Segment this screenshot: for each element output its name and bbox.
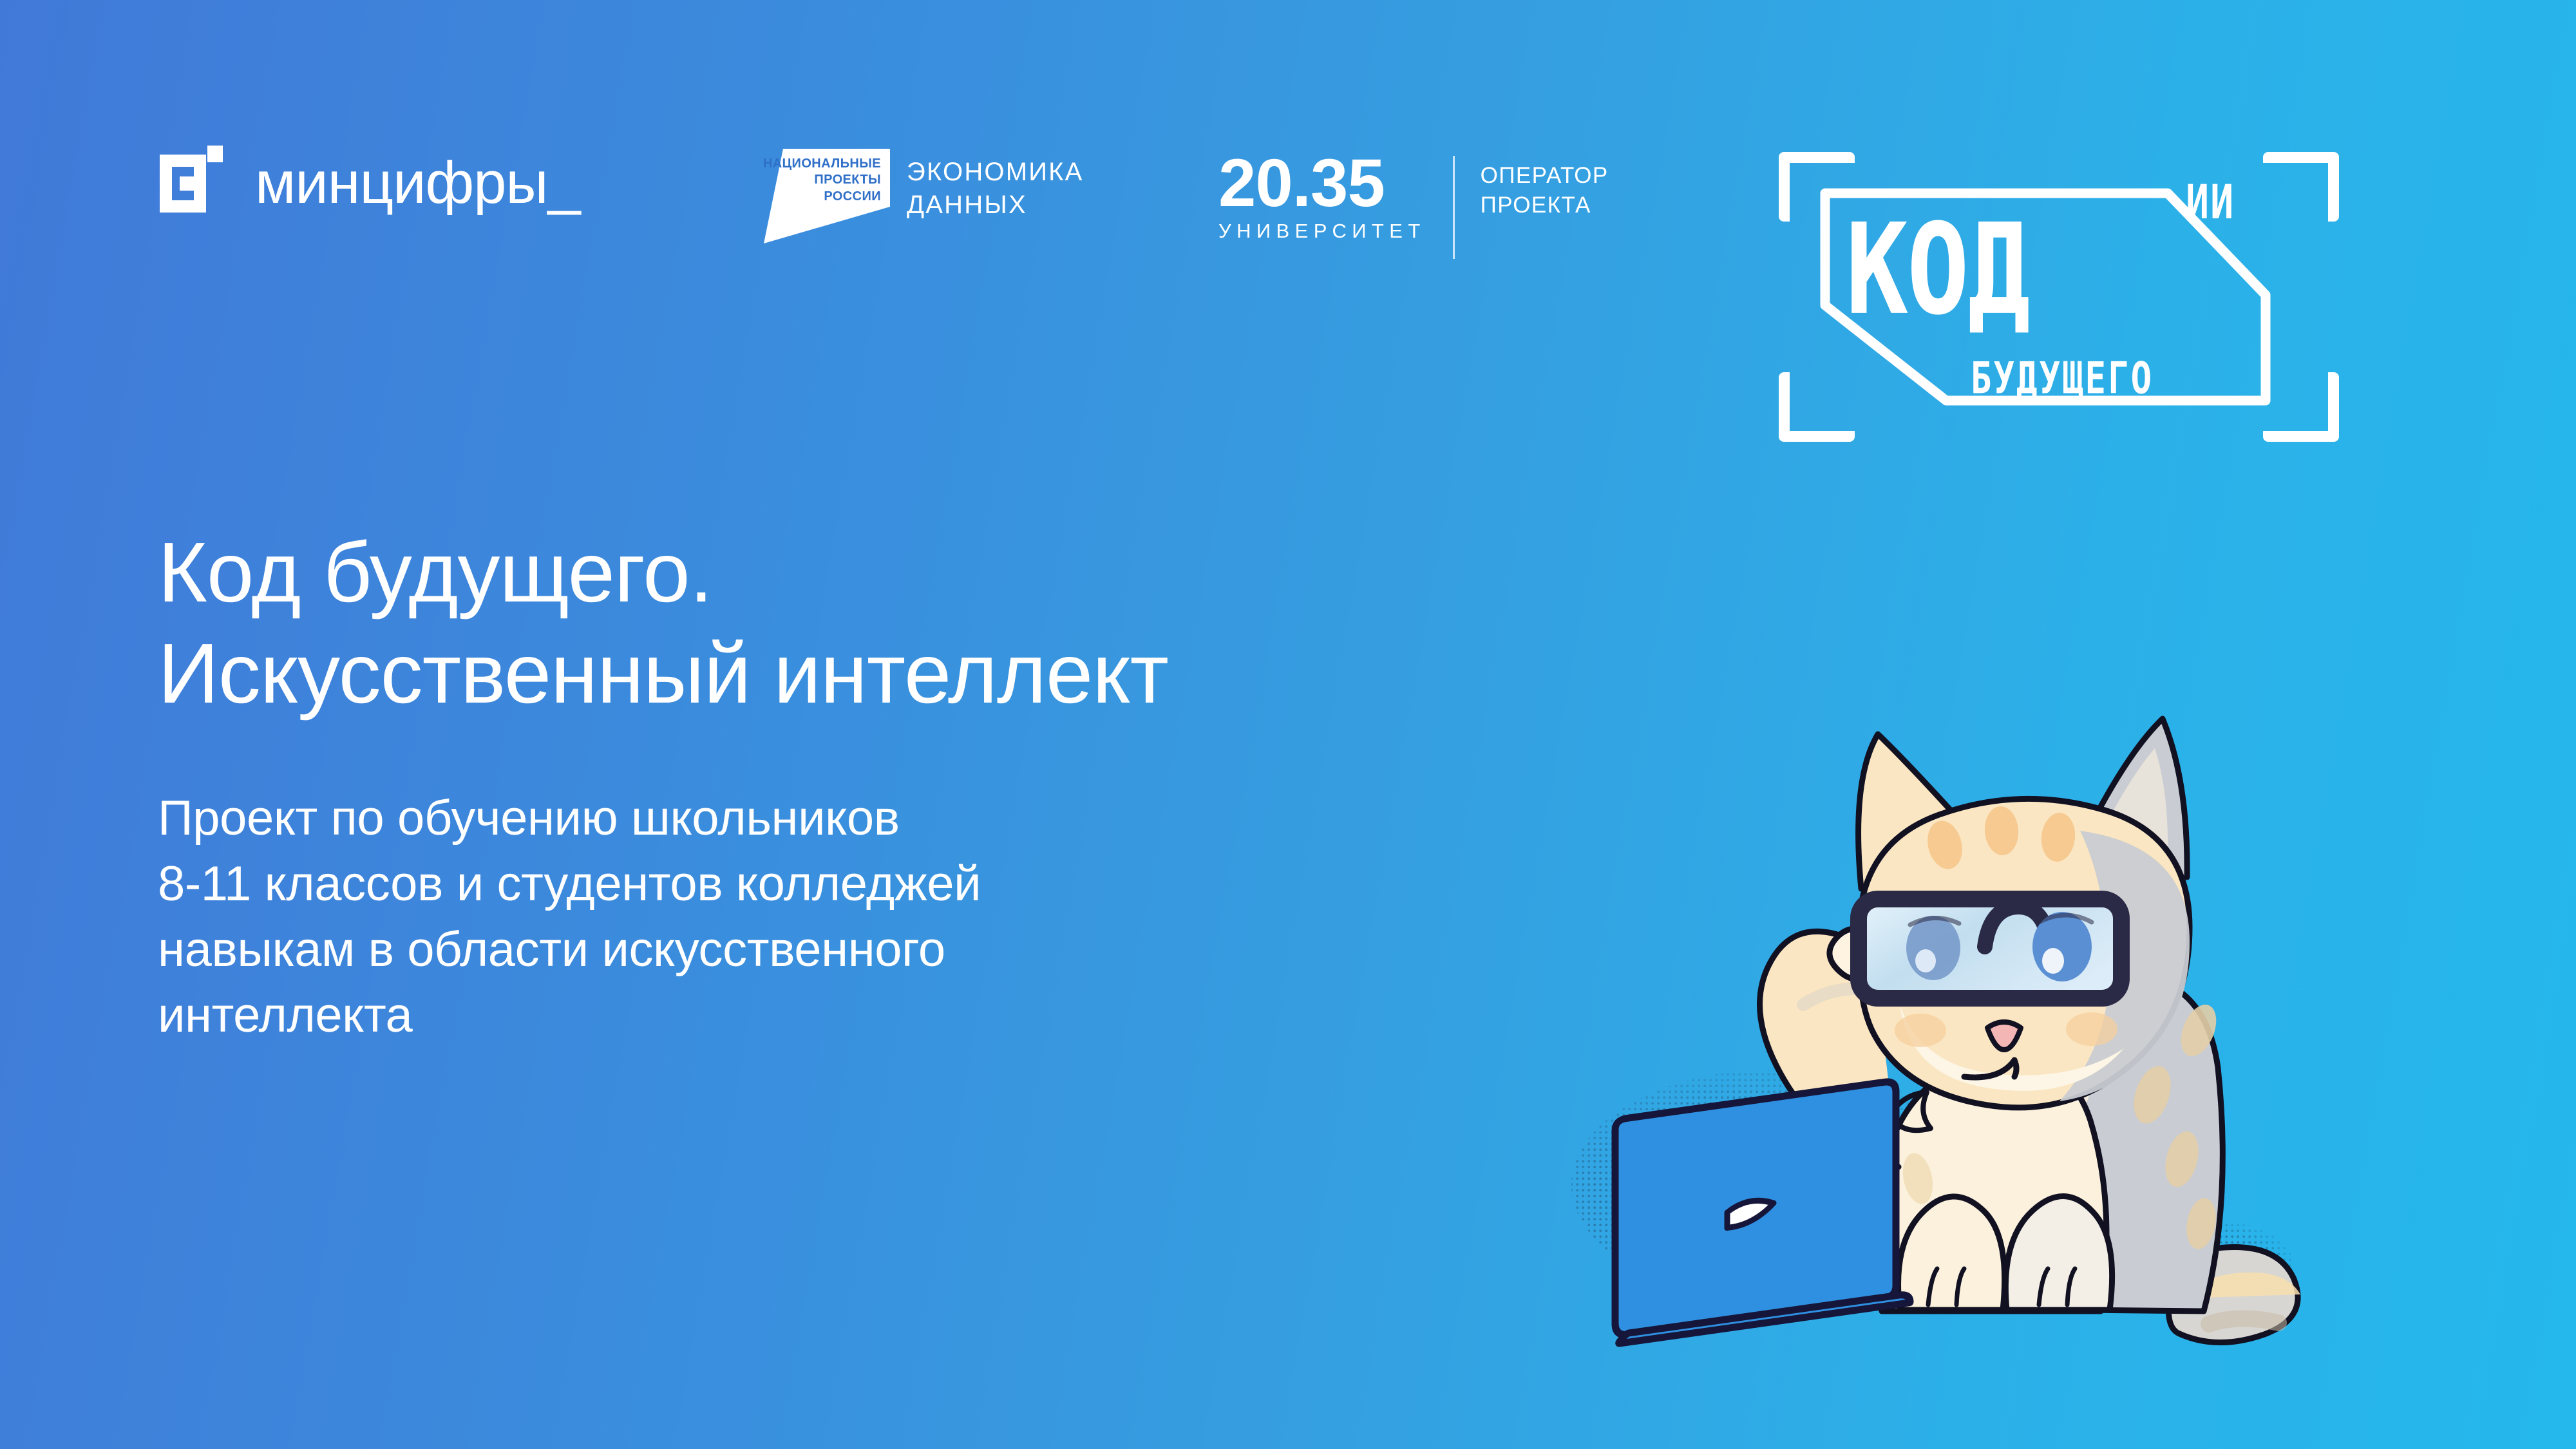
operator-line-1: ОПЕРАТОР <box>1481 163 1609 188</box>
frame-corner-bottom-right-icon <box>2263 372 2339 442</box>
logo-national-projects[interactable]: НАЦИОНАЛЬНЫЕ ПРОЕКТЫ РОССИИ ЭКОНОМИКА ДА… <box>761 147 1084 243</box>
logo-divider <box>1453 156 1455 259</box>
budushchego-wordmark: БУДУЩЕГО <box>1971 357 2154 401</box>
cat-eye-left <box>1906 916 1960 980</box>
logo-row: минцифры_ НАЦИОНАЛЬНЫЕ ПРОЕКТЫ РОССИИ ЭК… <box>0 0 2576 296</box>
operator-line-2: ПРОЕКТА <box>1481 193 1591 218</box>
logo-kod-budushchego[interactable]: КОД БУДУЩЕГО ИИ <box>1779 152 2339 442</box>
page-title: Код будущего. Искусственный интеллект <box>158 522 1381 724</box>
page-description: Проект по обучению школьников 8-11 класс… <box>158 786 1381 1048</box>
flag-line-2: ПРОЕКТЫ <box>814 173 881 186</box>
economy-line-2: ДАННЫХ <box>907 191 1027 219</box>
ii-badge: ИИ <box>2186 179 2235 226</box>
university-subtitle: УНИВЕРСИТЕТ <box>1218 221 1426 241</box>
flag-line-1: НАЦИОНАЛЬНЫЕ <box>763 157 881 170</box>
hero-copy: Код будущего. Искусственный интеллект Пр… <box>158 522 1381 1048</box>
university-mark: 20.35 УНИВЕРСИТЕТ <box>1218 152 1426 241</box>
project-operator-caption: ОПЕРАТОР ПРОЕКТА <box>1481 161 1609 220</box>
mincifry-wordmark: минцифры_ <box>255 153 580 213</box>
kod-wordmark: КОД <box>1846 207 2029 333</box>
logo-university-2035[interactable]: 20.35 УНИВЕРСИТЕТ ОПЕРАТОР ПРОЕКТА <box>1218 152 1609 259</box>
logo-mincifry[interactable]: минцифры_ <box>160 146 580 220</box>
economy-of-data-caption: ЭКОНОМИКА ДАННЫХ <box>907 156 1084 222</box>
mincifry-square-mark-icon <box>160 146 231 220</box>
national-projects-flag-icon: НАЦИОНАЛЬНЫЕ ПРОЕКТЫ РОССИИ <box>761 147 890 243</box>
university-number: 20.35 <box>1218 152 1426 216</box>
economy-line-1: ЭКОНОМИКА <box>907 158 1084 186</box>
cat-illustration <box>1501 644 2312 1385</box>
poster-canvas: минцифры_ НАЦИОНАЛЬНЫЕ ПРОЕКТЫ РОССИИ ЭК… <box>0 0 2576 1449</box>
flag-line-3: РОССИИ <box>824 190 881 203</box>
frame-corner-top-right-icon <box>2263 152 2339 222</box>
